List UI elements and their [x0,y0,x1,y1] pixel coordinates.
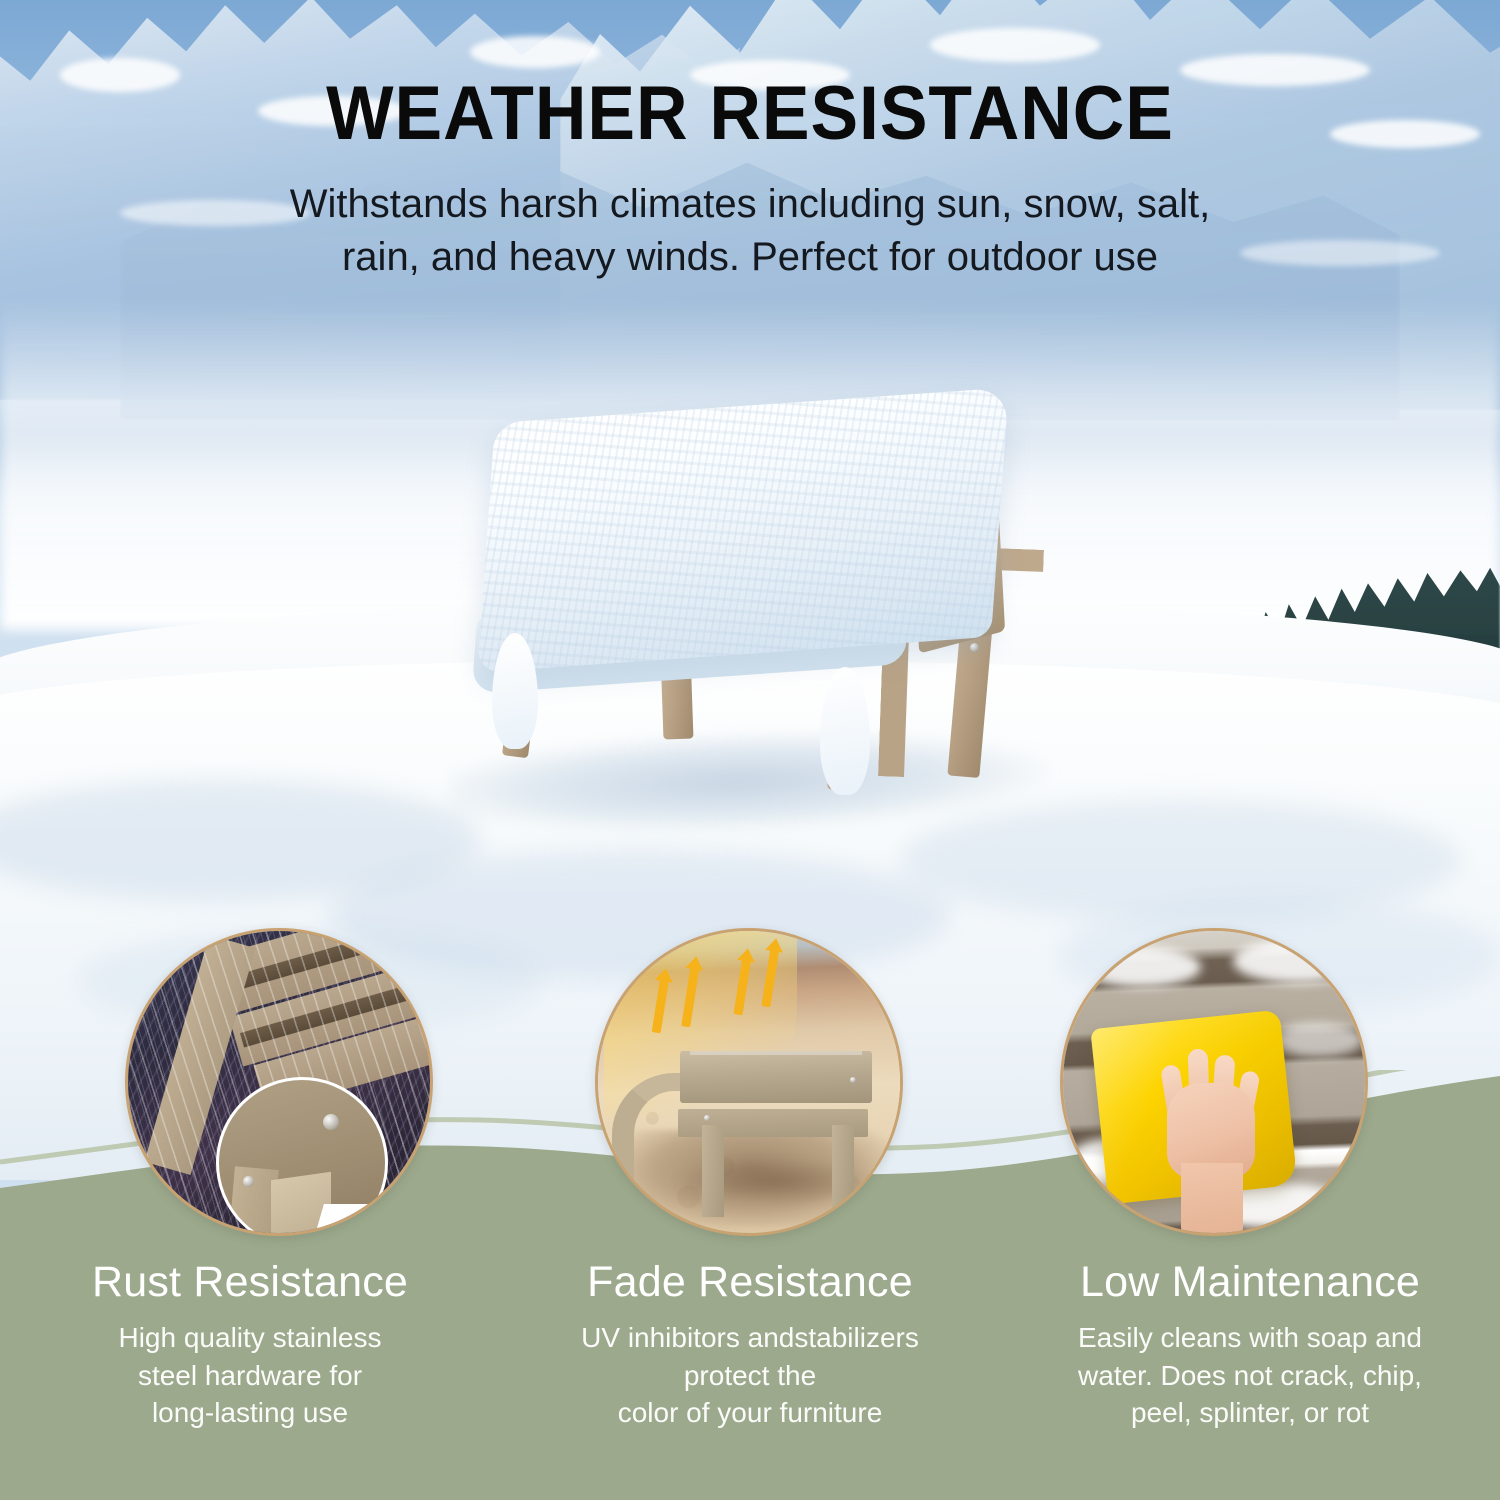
ottoman-leg-left [702,1125,724,1217]
page-subtitle: Withstands harsh climates including sun,… [0,178,1500,284]
badge-rust-resistance[interactable] [125,928,433,1236]
ottoman-screw [850,1077,856,1083]
snow-on-leg [820,667,870,795]
page-title: WEATHER RESISTANCE [45,70,1455,157]
ottoman-snow-top [477,388,1008,673]
feature-body-line: long-lasting use [18,1394,482,1432]
hero-product-ottoman [430,395,1070,815]
weather-resistance-infographic: WEATHER RESISTANCE Withstands harsh clim… [0,0,1500,1500]
badge-fade-image [598,931,900,1233]
feature-text-columns: Rust Resistance High quality stainless s… [0,1258,1500,1432]
ottoman-on-sand [664,1051,870,1179]
soap-suds [1273,1023,1363,1057]
feature-body-line: UV inhibitors andstabilizers [518,1319,982,1357]
soap-suds [1233,939,1363,983]
feature-body-line: peel, splinter, or rot [1018,1394,1482,1432]
feature-column-maintenance: Low Maintenance Easily cleans with soap … [1000,1258,1500,1432]
badge-low-maintenance[interactable] [1060,928,1368,1236]
stainless-screw-icon [323,1114,339,1130]
feature-title-fade: Fade Resistance [518,1258,982,1307]
stainless-screw-icon [243,1176,254,1187]
feature-title-maintenance: Low Maintenance [1018,1258,1482,1307]
ottoman-screw [970,643,979,652]
wrist [1181,1163,1243,1236]
feature-column-rust: Rust Resistance High quality stainless s… [0,1258,500,1432]
badge-rust-image [128,931,430,1233]
hand [1159,1035,1263,1215]
feature-body-line: protect the [518,1357,982,1395]
ottoman-leg-right [832,1125,854,1211]
magnified-screw-inset [216,1077,388,1236]
feature-title-rust: Rust Resistance [18,1258,482,1307]
subtitle-line-1: Withstands harsh climates including sun,… [0,178,1500,231]
feature-body-fade: UV inhibitors andstabilizers protect the… [518,1319,982,1432]
snow-texture [477,388,1008,673]
inset-highlight [310,1204,388,1236]
ottoman-seat [680,1051,872,1103]
feature-body-line: water. Does not crack, chip, [1018,1357,1482,1395]
feature-body-maintenance: Easily cleans with soap and water. Does … [1018,1319,1482,1432]
feature-body-line: color of your furniture [518,1394,982,1432]
snow-cap [470,36,600,68]
badge-fade-resistance[interactable] [595,928,903,1236]
feature-body-line: High quality stainless [18,1319,482,1357]
badge-maintenance-image [1063,931,1365,1233]
ottoman-screw [704,1115,710,1121]
soap-suds [1081,947,1201,987]
feature-column-fade: Fade Resistance UV inhibitors andstabili… [500,1258,1000,1432]
feature-body-line: Easily cleans with soap and [1018,1319,1482,1357]
subtitle-line-2: rain, and heavy winds. Perfect for outdo… [0,231,1500,284]
feature-body-line: steel hardware for [18,1357,482,1395]
snow-cap [930,28,1100,62]
feature-body-rust: High quality stainless steel hardware fo… [18,1319,482,1432]
